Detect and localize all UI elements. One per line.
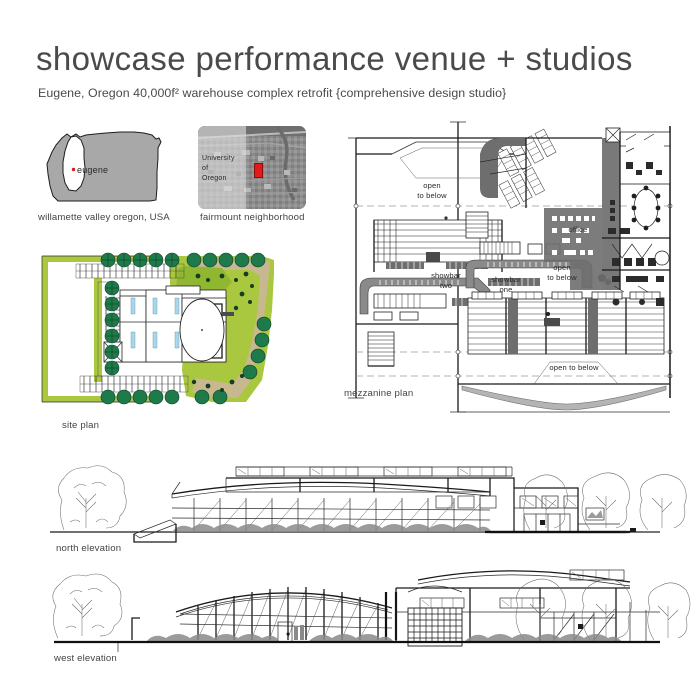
- label-open-to-below-1b: to below: [417, 191, 447, 200]
- label-showbar-two-b: two: [440, 281, 452, 290]
- label-open-to-below-2a: open: [553, 263, 571, 272]
- eugene-marker: [72, 168, 75, 171]
- label-showbar-two-a: showbar: [431, 271, 461, 280]
- west-box-volume: [278, 570, 660, 646]
- page-subtitle: Eugene, Oregon 40,000f² warehouse comple…: [38, 86, 506, 100]
- stair-southwest: [368, 332, 394, 366]
- grid-window: [408, 608, 462, 646]
- label-open-to-below-3: open to below: [549, 363, 599, 372]
- scale-figures: [294, 625, 304, 640]
- auditorium-seating: [468, 292, 664, 354]
- eugene-label: eugene: [77, 165, 108, 175]
- overlay-line-2: of: [202, 164, 235, 174]
- label-showbar-one-b: one: [499, 285, 512, 294]
- label-open-to-below-1a: open: [423, 181, 441, 190]
- caption-fairmount: fairmount neighborhood: [200, 212, 305, 223]
- caption-site-plan: site plan: [62, 420, 99, 431]
- aerial-photo: University of Oregon: [198, 126, 306, 209]
- loading-dock: [222, 312, 234, 316]
- label-office: office: [569, 225, 588, 234]
- oregon-state-map: eugene: [40, 126, 170, 216]
- page-title: showcase performance venue + studios: [36, 40, 633, 78]
- caption-north-elevation: north elevation: [56, 543, 121, 554]
- north-elevation-drawing: [30, 452, 680, 547]
- site-plan-drawing: [36, 250, 308, 415]
- label-open-to-below-2b: to below: [547, 273, 577, 282]
- north-box-volume: [436, 478, 626, 532]
- stair-center: [466, 212, 488, 238]
- elevation-tree-left: [58, 466, 126, 530]
- university-overlay-label: University of Oregon: [202, 154, 235, 184]
- overlay-line-3: Oregon: [202, 174, 235, 184]
- overlay-line-1: University: [202, 154, 235, 164]
- entry-marker: [540, 520, 545, 525]
- caption-willamette: willamette valley oregon, USA: [38, 212, 170, 223]
- entry-ramp-left: [134, 520, 176, 542]
- shrub-line: [172, 524, 492, 532]
- west-elevation-drawing: [30, 562, 680, 657]
- upper-tier-seating: [480, 129, 556, 208]
- caption-west-elevation: west elevation: [54, 653, 117, 664]
- label-showbar-one-a: showbar: [491, 275, 521, 284]
- project-site-marker: [254, 163, 263, 178]
- north-facade: [172, 467, 512, 532]
- office-wing: [602, 126, 670, 398]
- presentation-board: showcase performance venue + studios Eug…: [0, 0, 700, 686]
- mezzanine-plan-drawing: open to below open to below showbar two …: [330, 112, 680, 422]
- elevation-tree-left-west: [53, 574, 122, 638]
- caption-mezzanine-plan: mezzanine plan: [344, 388, 413, 399]
